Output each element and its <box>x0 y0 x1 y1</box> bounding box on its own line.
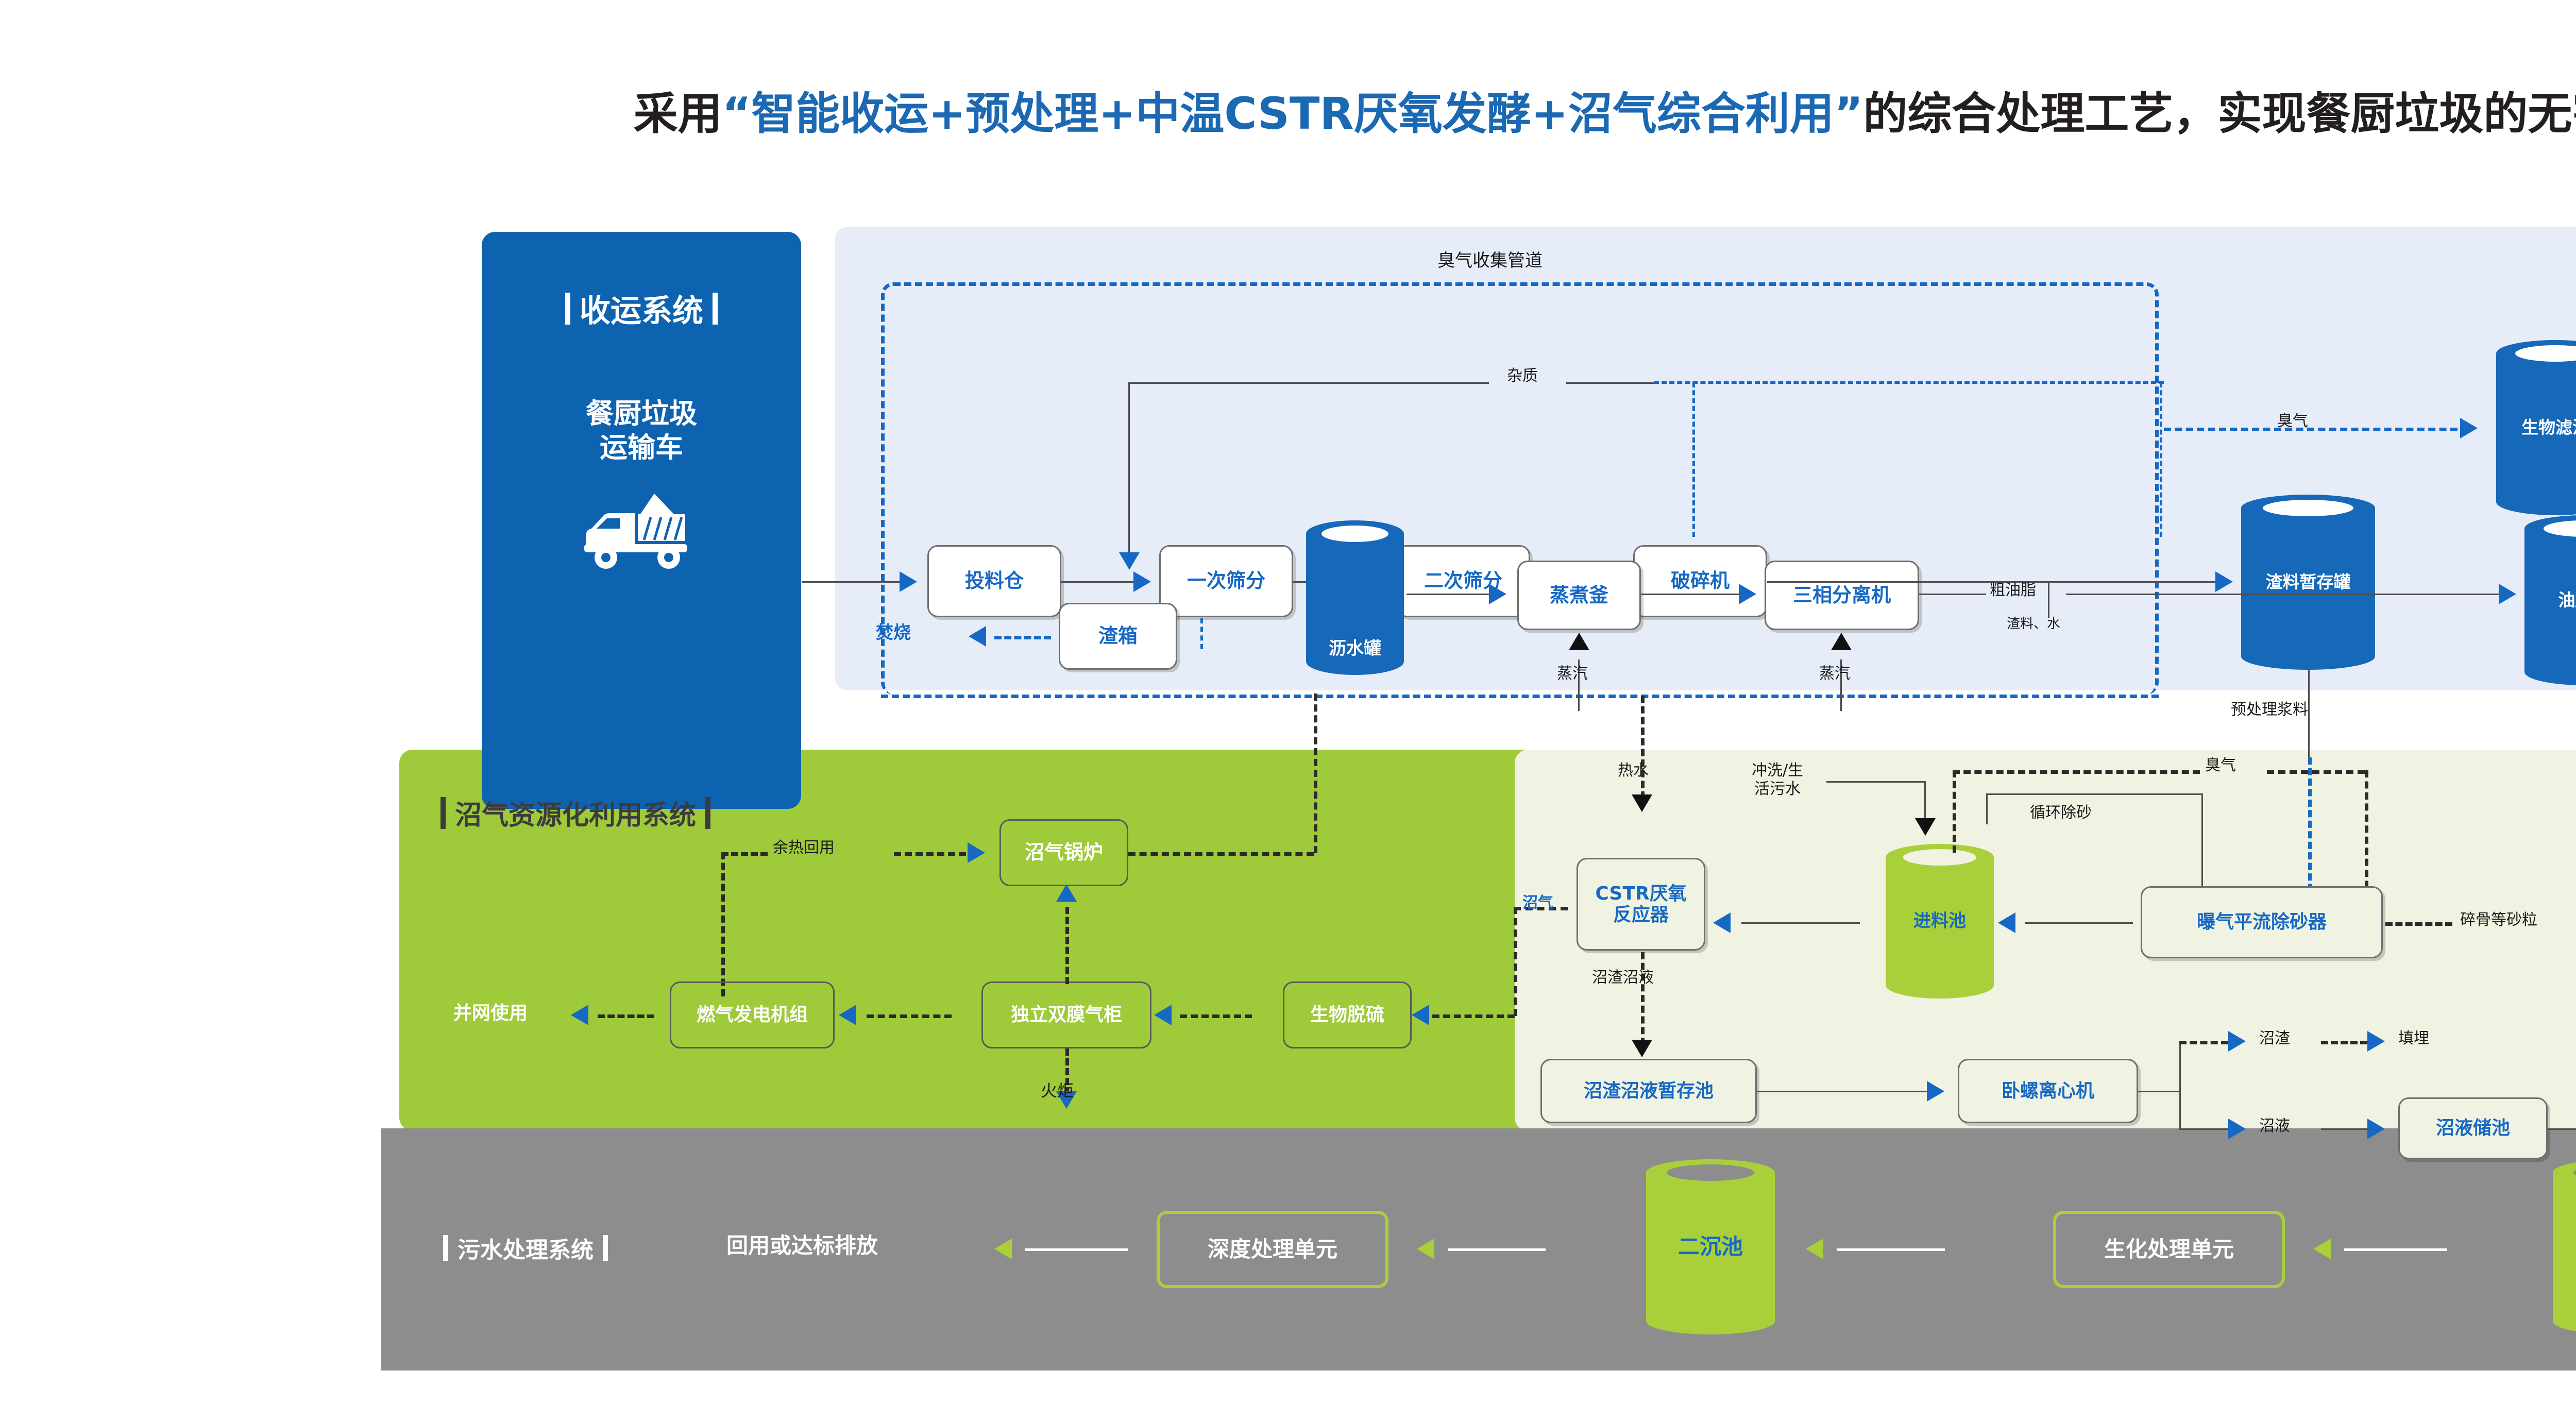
line-impurity-top-left <box>1128 382 1489 384</box>
label-bone-grit: 碎骨等砂粒 <box>2460 911 2537 929</box>
label-biogas-residue: 沼渣 <box>2259 1029 2290 1048</box>
cylinder-biofilter[interactable]: 生物滤池 <box>2496 340 2576 515</box>
arrow-clarifier1-to-bio <box>2313 1239 2331 1259</box>
line-threephase-out <box>1919 594 1986 595</box>
wastewater-heading-wrap: 污水处理系统 <box>443 1231 608 1264</box>
arrow-impurity-to-residuebox <box>1119 552 1140 570</box>
dashed-residue-to-incinerate <box>994 636 1051 639</box>
title-lead: 采用 <box>634 88 722 140</box>
arrow-waste-heat <box>968 842 985 863</box>
line-digestate-to-centrifuge <box>1757 1091 1927 1092</box>
dashed-impurity-drop-a <box>1692 382 1695 537</box>
biogas-heading: 沼气资源化利用系统 <box>455 793 696 832</box>
box-bio-desulfurization[interactable]: 生物脱硫 <box>1283 982 1412 1048</box>
dashed-waste-heat <box>894 852 966 856</box>
label-pretreated-slurry: 预处理浆料 <box>2231 701 2308 719</box>
cylinder-opening <box>1321 526 1388 542</box>
dashed-heat-loop-down <box>721 852 725 996</box>
cylinder-drain-tank[interactable]: 沥水罐 <box>1306 520 1404 675</box>
line-grit-to-feed <box>2025 922 2133 924</box>
line-clarifier1-to-bio <box>2344 1248 2447 1251</box>
heading-bar-right <box>603 1235 608 1261</box>
dashed-bone-grit-left <box>2385 922 2452 926</box>
arrow-desulf-to-holder <box>1154 1005 1172 1025</box>
box-residue-box[interactable]: 渣箱 <box>1059 603 1177 670</box>
label-landfill: 填埋 <box>2398 1029 2429 1048</box>
line-advanced-to-reuse <box>1025 1248 1128 1251</box>
heading-bar-right <box>705 797 710 829</box>
cylinder-label: 油脂罐 <box>2524 590 2576 611</box>
title-highlight: “智能收运+预处理+中温CSTR厌氧发酵+沼气综合利用” <box>722 88 1863 140</box>
dashed-boiler-up <box>1314 693 1317 853</box>
dashed-digestate-down <box>1641 952 1645 1045</box>
line-odor-branch <box>2201 793 2203 899</box>
cylinder-feed-tank[interactable]: 进料池 <box>1886 844 1994 999</box>
line-truck-to-feedbin <box>802 581 900 583</box>
label-odor-pre: 臭气 <box>2277 412 2308 431</box>
label-grid-use: 并网使用 <box>453 1002 528 1024</box>
collection-vehicle-label: 餐厨垃圾运输车 <box>482 397 801 465</box>
cylinder-opening <box>2263 500 2354 516</box>
arrow-hot-water <box>1632 794 1652 812</box>
label-flare: 火炬 <box>1041 1081 1074 1101</box>
arrow-clarifier2-to-advanced <box>1417 1239 1434 1259</box>
box-crusher[interactable]: 破碎机 <box>1633 545 1767 617</box>
dashed-impurity-right <box>1654 381 2164 384</box>
line-centrifuge-split <box>2179 1041 2181 1128</box>
line-bio-to-clarifier2 <box>1837 1248 1945 1251</box>
box-biogas-boiler[interactable]: 沼气锅炉 <box>999 819 1128 886</box>
label-biogas-liquid: 沼液 <box>2259 1117 2290 1136</box>
dashed-odor-feed-up <box>1953 770 1956 853</box>
collection-heading-wrap: 收运系统 <box>482 286 801 331</box>
cylinder-primary-clarifier[interactable]: 初沉池 <box>2553 1159 2576 1334</box>
cylinder-opening <box>1903 849 1977 866</box>
line-drain-to-cooker <box>1406 594 1489 595</box>
line-feed-to-cstr <box>1741 922 1860 924</box>
dashed-hot-water <box>1641 696 1645 799</box>
line-liquid-branch <box>2179 1128 2228 1130</box>
arrow-grit-to-feed <box>1998 912 2015 933</box>
label-reuse-or-discharge: 回用或达标排放 <box>726 1233 878 1259</box>
collection-heading: 收运系统 <box>580 286 703 331</box>
label-residue-water: 渣料、水 <box>2007 616 2060 632</box>
arrow-grease-to-tank <box>2499 584 2516 604</box>
cylinder-secondary-clarifier[interactable]: 二沉池 <box>1646 1159 1775 1334</box>
box-primary-screen[interactable]: 一次筛分 <box>1159 545 1293 617</box>
dashed-impurity-low-up <box>1200 618 1203 649</box>
arrow-digestate-to-centrifuge <box>1927 1081 1944 1102</box>
box-aerated-grit-chamber[interactable]: 曝气平流除砂器 <box>2141 886 2383 958</box>
biogas-heading-wrap: 沼气资源化利用系统 <box>440 793 710 832</box>
line-feedbin-to-screen1 <box>1061 581 1133 583</box>
dashed-residue-branch <box>2179 1041 2228 1044</box>
box-biochemical-unit[interactable]: 生化处理单元 <box>2053 1211 2285 1288</box>
arrow-holder-to-generator <box>839 1005 856 1025</box>
line-tank-to-wwtp <box>2548 1128 2576 1130</box>
arrow-biogas-liquid <box>2228 1119 2246 1139</box>
cylinder-residue-tank[interactable]: 渣料暂存罐 <box>2241 495 2375 670</box>
box-three-phase-separator[interactable]: 三相分离机 <box>1765 561 1919 630</box>
cylinder-bottom <box>1646 1308 1775 1334</box>
box-decanter-centrifuge[interactable]: 卧螺离心机 <box>1958 1059 2138 1123</box>
box-feed-bin[interactable]: 投料仓 <box>927 545 1061 617</box>
arrow-digestate-down <box>1632 1040 1652 1057</box>
arrow-biogas-residue <box>2228 1031 2246 1052</box>
line-slurry-down <box>2308 670 2310 757</box>
dashed-generator-to-grid <box>598 1014 654 1018</box>
arrow-steam2 <box>1831 633 1852 650</box>
dashed-residue-to-landfill <box>2321 1041 2367 1044</box>
box-secondary-screen[interactable]: 二次筛分 <box>1396 545 1530 617</box>
odor-pipe-label: 臭气收集管道 <box>1437 250 1543 272</box>
label-biogas-out: 沼气 <box>1522 894 1553 912</box>
arrow-liquid-to-tank <box>2367 1119 2385 1139</box>
dashed-odor-top <box>1953 770 2200 774</box>
wastewater-heading: 污水处理系统 <box>457 1231 594 1264</box>
box-biogas-slurry-tank[interactable]: 沼液储池 <box>2398 1097 2548 1159</box>
label-steam-1: 蒸汽 <box>1557 665 1588 683</box>
line-cooker-to-threephase <box>1641 594 1739 595</box>
dashed-impurity-drop-b <box>2160 382 2162 537</box>
label-incineration: 焚烧 <box>876 622 911 644</box>
line-clarifier2-to-advanced <box>1448 1248 1546 1251</box>
dashed-waste-heat-left <box>721 852 768 856</box>
line-impurity-down <box>1128 382 1130 552</box>
arrow-cooker-to-threephase <box>1739 584 1756 604</box>
cylinder-label: 渣料暂存罐 <box>2241 572 2375 593</box>
arrow-drain-to-cooker <box>1489 584 1506 604</box>
line-flush-down <box>1924 781 1926 822</box>
label-impurity-top: 杂质 <box>1507 367 1538 385</box>
label-steam-2: 蒸汽 <box>1819 665 1850 683</box>
line-centrifuge-out <box>2138 1091 2179 1092</box>
box-advanced-unit[interactable]: 深度处理单元 <box>1157 1211 1388 1288</box>
cylinder-bottom <box>2241 643 2375 670</box>
cylinder-bottom <box>1886 972 1994 999</box>
cylinder-label: 进料池 <box>1886 911 1994 932</box>
heading-bar-left <box>443 1235 448 1261</box>
box-digestate-storage[interactable]: 沼渣沼液暂存池 <box>1540 1059 1757 1123</box>
label-digestate: 沼渣沼液 <box>1592 969 1654 987</box>
cylinder-grease-tank[interactable]: 油脂罐 <box>2524 515 2576 685</box>
heading-bar-left <box>440 797 446 829</box>
dashed-odor-down <box>2365 770 2368 899</box>
process-flow-diagram: 采用“智能收运+预处理+中温CSTR厌氧发酵+沼气综合利用”的综合处理工艺，实现… <box>0 0 2576 1404</box>
title-tail: 的综合处理工艺，实现餐厨垃圾的无害化处理及资源化利用。 <box>1863 88 2576 140</box>
arrow-landfill <box>2367 1031 2385 1052</box>
label-odor-anaerobic: 臭气 <box>2205 756 2236 775</box>
arrow-feedbin-to-screen1 <box>1133 571 1151 592</box>
label-waste-heat-reuse: 余热回用 <box>773 839 835 857</box>
dashed-biogas-in <box>1432 1014 1515 1018</box>
page-title: 采用“智能收运+预处理+中温CSTR厌氧发酵+沼气综合利用”的综合处理工艺，实现… <box>0 77 2576 142</box>
line-recirculate-down <box>1986 793 1988 824</box>
arrow-bio-to-clarifier2 <box>1806 1239 1823 1259</box>
arrow-biogas-in <box>1412 1005 1429 1025</box>
line-recirculate-top <box>1986 793 2202 795</box>
label-hot-water: 热水 <box>1618 762 1649 780</box>
box-cstr-reactor[interactable]: CSTR厌氧反应器 <box>1577 858 1705 951</box>
line-impurity-top-right <box>1566 382 1654 384</box>
dashed-odor-right <box>2267 770 2365 774</box>
label-circulating-desanding: 循环除砂 <box>2030 804 2092 822</box>
dashed-odor-to-biofilter <box>2164 428 2458 431</box>
label-crude-grease: 粗油脂 <box>1990 581 2036 600</box>
line-liquid-to-tank <box>2321 1128 2367 1130</box>
heading-bar-right <box>713 293 718 325</box>
arrow-feed-to-cstr <box>1713 912 1731 933</box>
box-cooker[interactable]: 蒸煮釜 <box>1517 561 1641 630</box>
garbage-truck-icon <box>577 484 706 572</box>
arrow-holder-to-boiler <box>1056 884 1077 902</box>
dashed-biogas-up <box>1514 907 1517 1016</box>
heading-bar-left <box>565 293 570 325</box>
odor-boundary-bottom <box>881 695 2159 698</box>
line-grease-to-tank <box>2066 594 2499 595</box>
box-gas-generator[interactable]: 燃气发电机组 <box>670 982 835 1048</box>
arrow-steam1 <box>1569 633 1589 650</box>
line-residue-water-drop <box>2048 581 2049 618</box>
cylinder-label: 二沉池 <box>1646 1234 1775 1260</box>
dashed-holder-to-boiler <box>1065 907 1069 984</box>
cylinder-label: 沥水罐 <box>1306 638 1404 659</box>
arrow-truck-to-feedbin <box>900 571 917 592</box>
dashed-desulf-to-holder <box>1180 1014 1252 1018</box>
dashed-holder-to-generator <box>867 1014 952 1018</box>
box-double-membrane-holder[interactable]: 独立双膜气柜 <box>981 982 1151 1048</box>
arrow-crusher-to-residuetank <box>2215 571 2233 592</box>
label-flush-sewage: 冲洗/生活污水 <box>1736 762 1819 799</box>
dashed-slurry-to-grit <box>2308 757 2312 902</box>
dashed-boiler-right <box>1128 852 1314 856</box>
cylinder-label: 初沉池 <box>2553 1234 2576 1260</box>
arrow-advanced-to-reuse <box>994 1239 1012 1259</box>
arrow-flush-into-feed <box>1915 818 1936 836</box>
arrow-to-grid <box>571 1005 588 1025</box>
line-flush-right <box>1826 781 1924 783</box>
arrow-to-incineration <box>969 626 986 647</box>
cylinder-opening <box>1667 1164 1754 1181</box>
arrow-odor-to-biofilter <box>2460 418 2478 438</box>
cylinder-label: 生物滤池 <box>2496 417 2576 438</box>
